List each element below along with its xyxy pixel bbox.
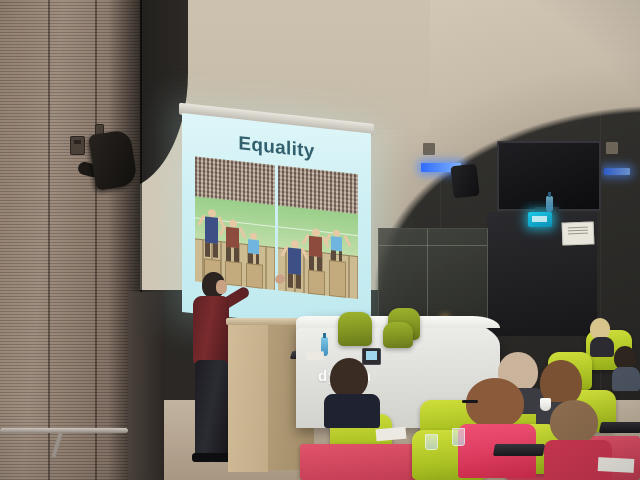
blue-led-sign-icon	[604, 168, 630, 175]
wall-notice-sign	[562, 221, 595, 245]
torso	[248, 239, 259, 254]
head	[550, 400, 598, 444]
audience-member-photographing	[330, 358, 374, 416]
water-bottle[interactable]	[546, 196, 553, 212]
lectern-front-left	[228, 322, 268, 472]
torso	[324, 394, 380, 428]
cardigan	[193, 296, 229, 364]
coffee-cup[interactable]	[540, 398, 551, 411]
water-glass[interactable]	[452, 428, 465, 446]
trousers	[195, 360, 228, 455]
lecture-theatre-photo: Equality	[0, 0, 640, 480]
papers[interactable]	[598, 457, 635, 473]
box	[246, 263, 263, 289]
figure-medium-adult	[309, 228, 322, 273]
audience-member-blonde	[590, 318, 614, 354]
face	[216, 280, 227, 294]
audience-laptop[interactable]	[493, 444, 545, 456]
raised-arms	[221, 224, 244, 237]
head	[466, 378, 524, 428]
legs	[205, 242, 218, 257]
eyeglasses-icon	[462, 400, 478, 403]
legs	[331, 250, 342, 261]
papers[interactable]	[306, 351, 325, 361]
box	[308, 270, 325, 296]
metal-handrail	[0, 428, 128, 433]
rear-wall-speaker-icon	[450, 164, 479, 199]
wall-mount-box	[423, 143, 435, 155]
torso	[612, 367, 640, 391]
wall-mount-box	[606, 142, 618, 154]
chair[interactable]	[383, 322, 413, 348]
audience-member-bearded	[614, 346, 640, 386]
chair[interactable]	[338, 312, 372, 346]
raised-arms	[283, 245, 306, 258]
wall-seam	[95, 0, 97, 480]
figure-tall-adult	[288, 240, 301, 293]
wall-socket-plate	[70, 136, 85, 155]
figure-short-child	[248, 232, 259, 266]
illustration-panel-equity	[278, 165, 358, 299]
legs	[226, 247, 239, 262]
raised-arms	[326, 233, 349, 246]
water-glass[interactable]	[425, 434, 438, 450]
figure-short-child	[331, 229, 342, 263]
wall-seam	[48, 0, 50, 480]
figure-medium-adult	[226, 219, 239, 264]
desk	[300, 444, 426, 480]
legs	[288, 274, 301, 289]
head	[330, 358, 368, 398]
raised-arms	[200, 214, 223, 227]
audience-laptop[interactable]	[599, 422, 640, 433]
torso	[590, 337, 614, 357]
legs	[248, 253, 259, 264]
figure-tall-adult	[205, 208, 218, 261]
cyan-status-display-icon	[528, 212, 552, 227]
illustration-panel-equality	[195, 156, 275, 290]
legs	[309, 256, 322, 271]
audience-member-pink-top	[466, 378, 530, 474]
box	[329, 260, 346, 298]
left-pillar	[128, 292, 164, 480]
